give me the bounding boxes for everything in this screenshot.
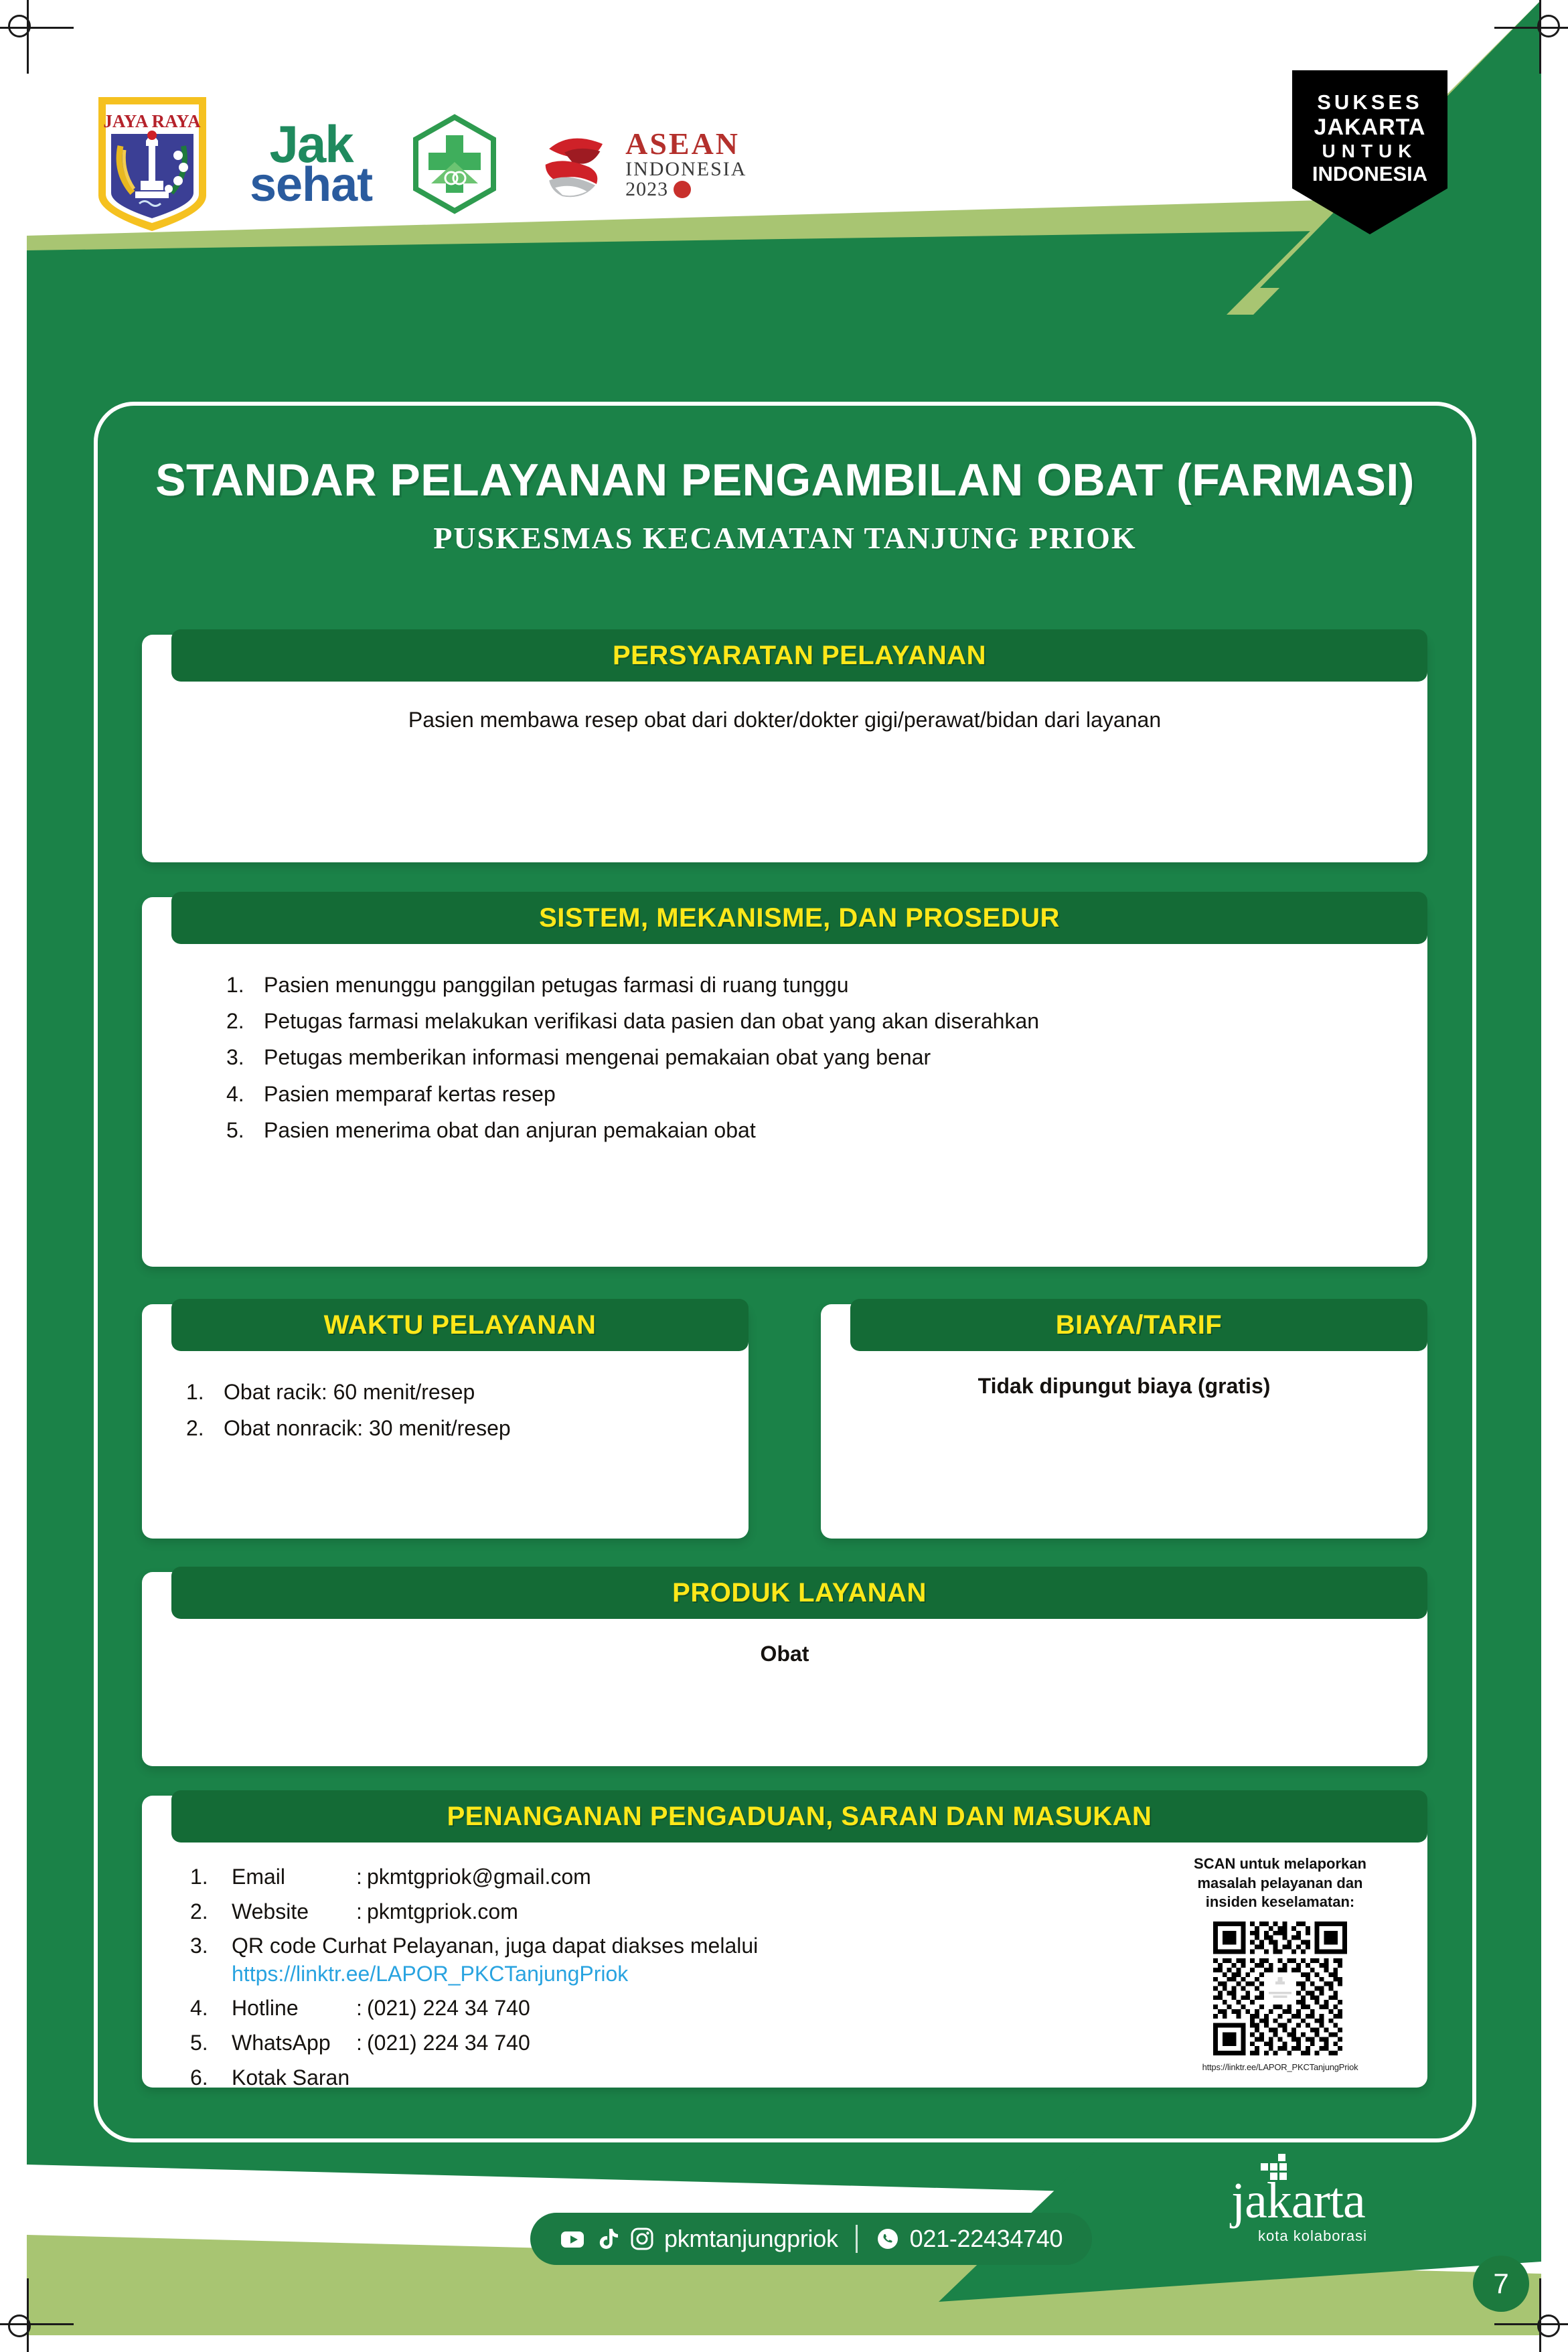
- pengaduan-separator: :: [356, 1863, 367, 1891]
- instagram-icon[interactable]: [629, 2226, 655, 2252]
- tiktok-icon[interactable]: [595, 2226, 620, 2252]
- section-header-pengaduan: PENANGANAN PENGADUAN, SARAN DAN MASUKAN: [171, 1790, 1427, 1843]
- pengaduan-label: Hotline: [232, 1994, 356, 2023]
- section-heading-text: SISTEM, MEKANISME, DAN PROSEDUR: [539, 903, 1060, 933]
- qr-url-text: https://linktr.ee/LAPOR_PKCTanjungPriok: [1173, 2062, 1387, 2072]
- section-header-biaya: BIAYA/TARIF: [850, 1299, 1427, 1351]
- section-produk-layanan: PRODUK LAYANAN Obat: [142, 1572, 1427, 1766]
- jaksehat-logo-line2: sehat: [250, 165, 372, 205]
- produk-text: Obat: [189, 1642, 1381, 1666]
- list-item: Petugas memberikan informasi mengenai pe…: [226, 1039, 1381, 1075]
- badge-line-3: UNTUK: [1322, 141, 1418, 162]
- qr-caption: SCAN untuk melaporkan masalah pelayanan …: [1173, 1855, 1387, 1912]
- asean-year: 2023: [625, 179, 668, 200]
- biaya-text: Tidak dipungut biaya (gratis): [868, 1374, 1381, 1399]
- qr-code-icon[interactable]: [1213, 1922, 1347, 2055]
- list-item: Obat racik: 60 menit/resep: [186, 1374, 728, 1410]
- jakarta-logo: jakarta kota kolaborasi: [1231, 2177, 1367, 2245]
- section-persyaratan-pelayanan: PERSYARATAN PELAYANAN Pasien membawa res…: [142, 635, 1427, 862]
- list-item: Pasien memparaf kertas resep: [226, 1076, 1381, 1112]
- puskesmas-hexagon-logo-icon: [411, 114, 498, 214]
- poster-page: JAYA RAYA Jak sehat: [0, 0, 1568, 2352]
- list-item: Petugas farmasi melakukan verifikasi dat…: [226, 1003, 1381, 1039]
- pengaduan-separator: :: [356, 1994, 367, 2023]
- section-heading-text: BIAYA/TARIF: [1056, 1310, 1223, 1340]
- section-header-prosedur: SISTEM, MEKANISME, DAN PROSEDUR: [171, 892, 1427, 944]
- pengaduan-value: (021) 224 34 740: [367, 2031, 530, 2055]
- waktu-list: Obat racik: 60 menit/resep Obat nonracik…: [173, 1374, 728, 1446]
- pengaduan-label: WhatsApp: [232, 2029, 356, 2057]
- page-subtitle: PUSKESMAS KECAMATAN TANJUNG PRIOK: [94, 520, 1476, 556]
- badge-line-1: SUKSES: [1317, 90, 1422, 114]
- registration-mark: [1537, 2315, 1560, 2337]
- prosedur-list: Pasien menunggu panggilan petugas farmas…: [189, 967, 1381, 1148]
- registration-mark: [8, 15, 31, 37]
- section-heading-text: PERSYARATAN PELAYANAN: [613, 641, 986, 671]
- whatsapp-icon[interactable]: [875, 2226, 900, 2252]
- jakarta-logo-dots-icon: [1261, 2154, 1308, 2185]
- social-handle: pkmtanjungpriok: [664, 2225, 838, 2253]
- section-header-persyaratan: PERSYARATAN PELAYANAN: [171, 629, 1427, 682]
- asean-country: INDONESIA: [625, 159, 747, 179]
- pengaduan-value: (021) 224 34 740: [367, 1996, 530, 2020]
- footer-divider: [856, 2225, 858, 2253]
- page-title: STANDAR PELAYANAN PENGAMBILAN OBAT (FARM…: [94, 455, 1476, 505]
- asean-seal-icon: [674, 181, 691, 198]
- footer-phone: 021-22434740: [910, 2225, 1063, 2253]
- dki-jakarta-emblem-icon: JAYA RAYA: [94, 94, 211, 234]
- section-header-produk: PRODUK LAYANAN: [171, 1567, 1427, 1619]
- jaksehat-logo-icon: Jak sehat: [250, 123, 372, 206]
- registration-mark: [8, 2315, 31, 2337]
- pengaduan-separator: :: [356, 2029, 367, 2057]
- title-block: STANDAR PELAYANAN PENGAMBILAN OBAT (FARM…: [94, 455, 1476, 556]
- dki-emblem-text: JAYA RAYA: [103, 111, 201, 131]
- asean-title: ASEAN: [625, 129, 747, 159]
- list-item: Pasien menunggu panggilan petugas farmas…: [226, 967, 1381, 1003]
- page-number: 7: [1493, 2268, 1508, 2300]
- pengaduan-label: QR code Curhat Pelayanan, juga dapat dia…: [232, 1934, 758, 1958]
- section-heading-text: WAKTU PELAYANAN: [324, 1310, 597, 1340]
- badge-line-4: INDONESIA: [1312, 162, 1427, 186]
- section-header-waktu: WAKTU PELAYANAN: [171, 1299, 749, 1351]
- pengaduan-label: Kotak Saran: [232, 2065, 349, 2090]
- list-item: Pasien menerima obat dan anjuran pemakai…: [226, 1112, 1381, 1148]
- badge-line-2: JAKARTA: [1314, 114, 1426, 141]
- youtube-icon[interactable]: [560, 2226, 585, 2252]
- asean-indonesia-2023-logo-icon: ASEAN INDONESIA 2023: [537, 125, 747, 204]
- header-logo-row: JAYA RAYA Jak sehat: [94, 94, 747, 234]
- section-sistem-mekanisme-prosedur: SISTEM, MEKANISME, DAN PROSEDUR Pasien m…: [142, 897, 1427, 1267]
- page-number-badge: 7: [1473, 2256, 1529, 2312]
- pengaduan-separator: :: [356, 1898, 367, 1926]
- jakarta-logo-tagline: kota kolaborasi: [1258, 2227, 1367, 2245]
- section-waktu-pelayanan: WAKTU PELAYANAN Obat racik: 60 menit/res…: [142, 1304, 749, 1539]
- section-penanganan-pengaduan: PENANGANAN PENGADUAN, SARAN DAN MASUKAN …: [142, 1796, 1427, 2088]
- section-biaya-tarif: BIAYA/TARIF Tidak dipungut biaya (gratis…: [821, 1304, 1427, 1539]
- section-heading-text: PENANGANAN PENGADUAN, SARAN DAN MASUKAN: [447, 1802, 1152, 1832]
- registration-mark: [1537, 15, 1560, 37]
- pengaduan-label: Email: [232, 1863, 356, 1891]
- footer-contact-pill: pkmtanjungpriok 021-22434740: [530, 2213, 1092, 2265]
- pengaduan-link[interactable]: https://linktr.ee/LAPOR_PKCTanjungPriok: [232, 1962, 628, 1986]
- persyaratan-text: Pasien membawa resep obat dari dokter/do…: [189, 704, 1381, 735]
- pengaduan-value: pkmtgpriok.com: [367, 1899, 518, 1924]
- list-item: Obat nonracik: 30 menit/resep: [186, 1410, 728, 1446]
- pengaduan-value: pkmtgpriok@gmail.com: [367, 1865, 591, 1889]
- qr-code-block: SCAN untuk melaporkan masalah pelayanan …: [1173, 1855, 1387, 2072]
- section-body-pengaduan: Email:pkmtgpriok@gmail.com Website:pkmtg…: [142, 1796, 1427, 2112]
- pengaduan-label: Website: [232, 1898, 356, 1926]
- section-heading-text: PRODUK LAYANAN: [672, 1578, 927, 1608]
